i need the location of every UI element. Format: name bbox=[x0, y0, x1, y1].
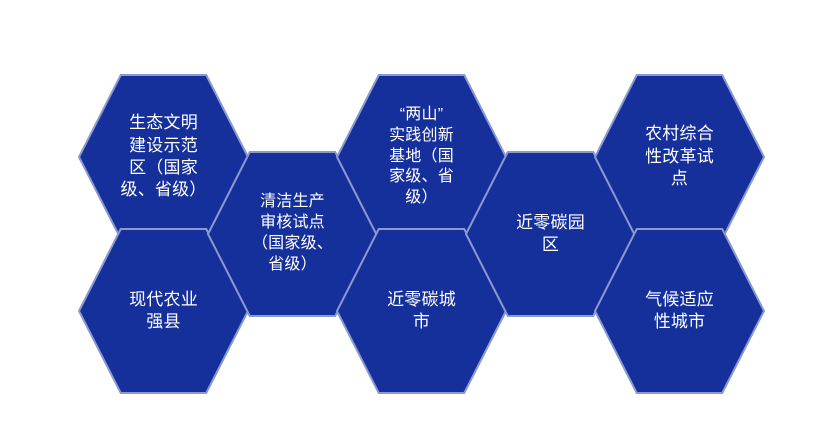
hexagon-label: 农村综合 性改革试 点 bbox=[639, 123, 720, 190]
honeycomb-diagram: 生态文明 建设示范 区（国家 级、省级） 现代农业 强县 清洁生产 审核试点 （… bbox=[0, 0, 819, 447]
hexagon-climate-adaptive-city[interactable]: 气候适应 性城市 bbox=[594, 228, 765, 394]
hexagon-label: 清洁生产 审核试点 （国家级、 省级） bbox=[246, 192, 339, 275]
hexagon-rural-comprehensive-reform-pilot[interactable]: 农村综合 性改革试 点 bbox=[594, 74, 765, 240]
hexagon-label: 近零碳园 区 bbox=[510, 212, 591, 257]
hexagon-label: 生态文明 建设示范 区（国家 级、省级） bbox=[115, 112, 213, 202]
hexagon-label: “两山” 实践创新 基地（国 家级、省 级） bbox=[383, 105, 460, 209]
hexagon-label: 现代农业 强县 bbox=[123, 289, 204, 334]
hexagon-label: 气候适应 性城市 bbox=[639, 289, 720, 334]
hexagon-label: 近零碳城 市 bbox=[381, 289, 462, 334]
